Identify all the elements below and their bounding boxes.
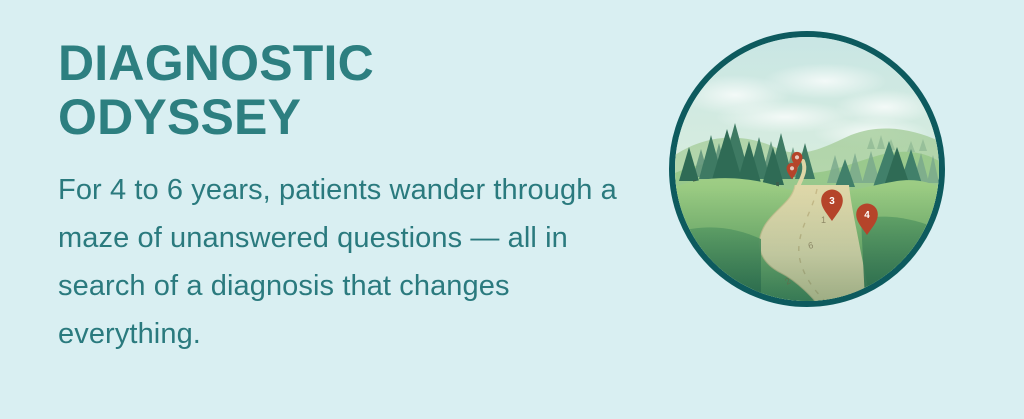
illustration-circle: 1 6 2 bbox=[669, 31, 945, 307]
headline-line-1: DIAGNOSTIC bbox=[58, 36, 638, 90]
headline-line-2: ODYSSEY bbox=[58, 90, 638, 144]
map-pin-3-label: 3 bbox=[829, 196, 835, 207]
path-number-1: 1 bbox=[821, 215, 826, 225]
map-pin-4-label: 4 bbox=[864, 210, 870, 221]
landscape-scene-svg: 1 6 2 bbox=[675, 37, 939, 301]
illustration-ring: 1 6 2 bbox=[669, 31, 945, 307]
body-text: For 4 to 6 years, patients wander throug… bbox=[58, 144, 618, 358]
diagnostic-odyssey-banner: DIAGNOSTIC ODYSSEY For 4 to 6 years, pat… bbox=[0, 0, 1024, 419]
text-block: DIAGNOSTIC ODYSSEY For 4 to 6 years, pat… bbox=[58, 36, 638, 358]
page-title: DIAGNOSTIC ODYSSEY bbox=[58, 36, 638, 144]
